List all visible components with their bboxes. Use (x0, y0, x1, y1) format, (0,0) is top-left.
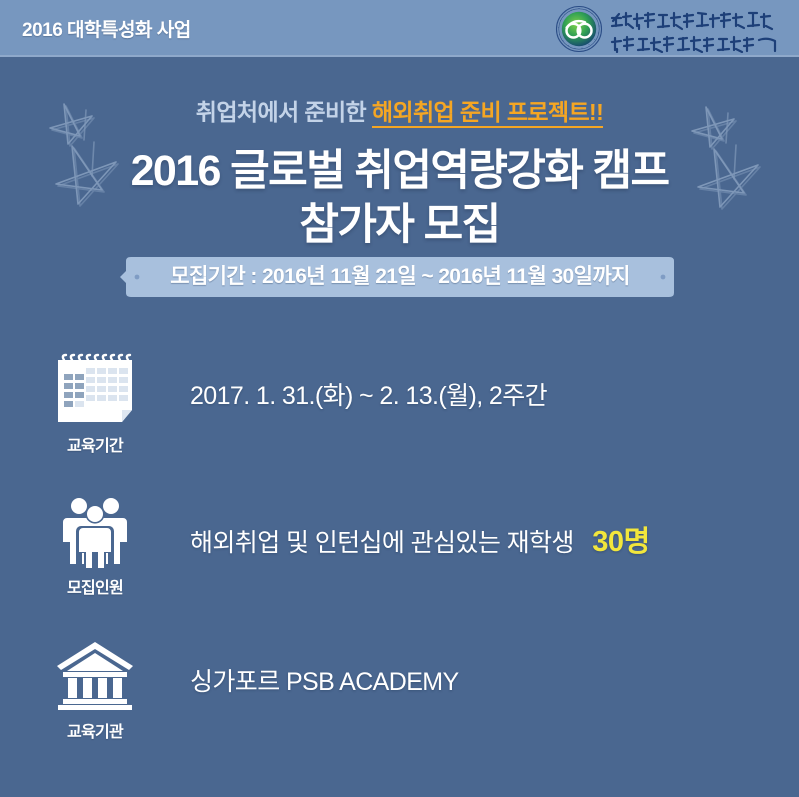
hero-subtitle-plain: 취업처에서 준비한 (196, 99, 366, 125)
anniversary-emblem-icon (555, 5, 603, 53)
ribbon-text: 모집기간 : 2016년 11월 21일 ~ 2016년 11월 30일까지 (118, 255, 682, 299)
hero-section: 취업처에서 준비한 해외취업 준비 프로젝트!! 2016 글로벌 취업역량강화… (0, 57, 799, 251)
text-column-period: 2017. 1. 31.(화) ~ 2. 13.(월), 2주간 (190, 352, 799, 412)
icon-column-period: 교육기간 (0, 352, 190, 456)
info-row-quota: 모집인원 해외취업 및 인턴십에 관심있는 재학생 30명 (0, 494, 799, 598)
university-logo (537, 3, 785, 55)
icon-caption-institute: 교육기관 (67, 718, 123, 742)
header-bar: 2016 대학특성화 사업 (0, 0, 799, 57)
hero-title-line-2: 참가자 모집 (0, 199, 799, 251)
logo-slogan-script (609, 5, 781, 53)
hero-subtitle-accent: 해외취업 준비 프로젝트!! (372, 99, 603, 128)
people-group-icon (53, 494, 137, 568)
text-column-institute: 싱가포르 PSB ACADEMY (190, 638, 799, 698)
info-row-period: 교육기간 2017. 1. 31.(화) ~ 2. 13.(월), 2주간 (0, 352, 799, 456)
hero-title-line-1: 2016 글로벌 취업역량강화 캠프 (0, 145, 799, 197)
info-text-quota: 해외취업 및 인턴십에 관심있는 재학생 (190, 529, 574, 557)
text-column-quota: 해외취업 및 인턴십에 관심있는 재학생 30명 (190, 494, 799, 560)
icon-caption-quota: 모집인원 (67, 574, 123, 598)
icon-column-institute: 교육기관 (0, 638, 190, 742)
institution-building-icon (53, 638, 137, 712)
quota-count-highlight: 30명 (592, 526, 649, 558)
poster-root: 2016 대학특성화 사업 (0, 0, 799, 797)
recruitment-period-ribbon: 모집기간 : 2016년 11월 21일 ~ 2016년 11월 30일까지 (118, 255, 682, 299)
calendar-icon (53, 352, 137, 426)
page-title: 2016 대학특성화 사업 (22, 15, 191, 42)
hero-subtitle: 취업처에서 준비한 해외취업 준비 프로젝트!! (0, 93, 799, 127)
info-row-institute: 교육기관 싱가포르 PSB ACADEMY (0, 638, 799, 742)
info-text-period: 2017. 1. 31.(화) ~ 2. 13.(월), 2주간 (190, 382, 547, 410)
icon-caption-period: 교육기간 (67, 432, 123, 456)
icon-column-quota: 모집인원 (0, 494, 190, 598)
info-text-institute: 싱가포르 PSB ACADEMY (190, 668, 459, 696)
